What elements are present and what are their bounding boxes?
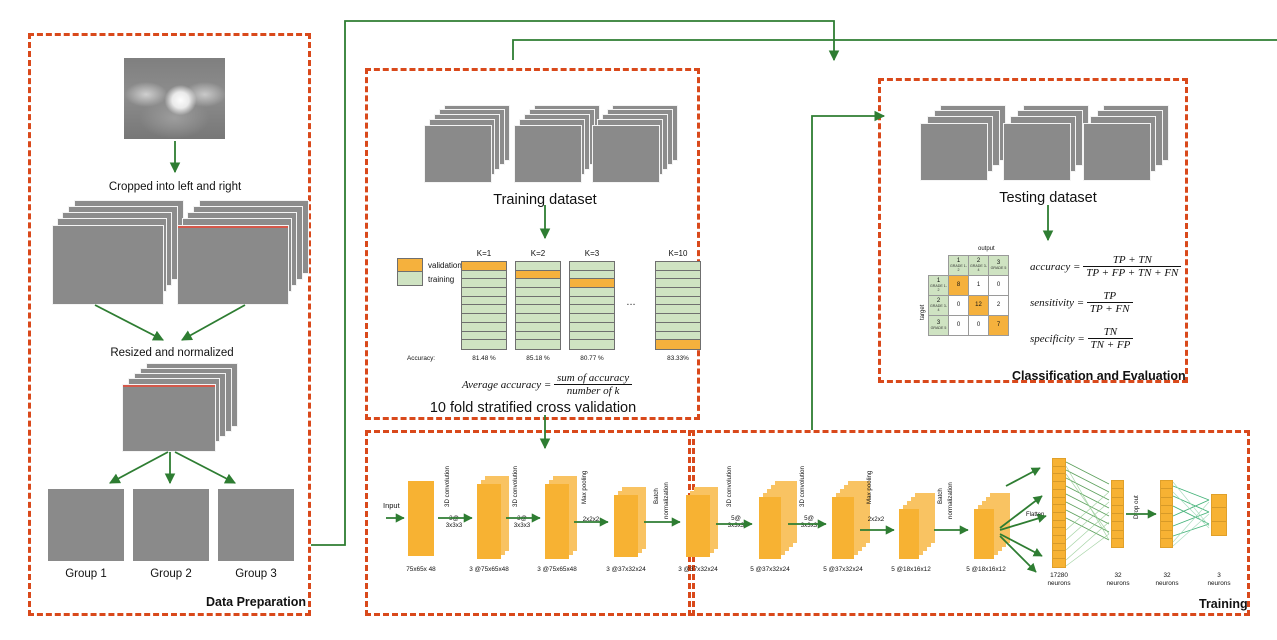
testing-dataset-stack-3 — [1083, 105, 1183, 185]
label-group-2: Group 2 — [150, 568, 192, 580]
cm-col-header-3: 3 GRADE 5 — [989, 256, 1009, 276]
cm-row-header-1: 1 GRADE 1-2 — [929, 276, 949, 296]
formula-sensitivity-name: sensitivity = — [1030, 297, 1084, 309]
cnn-flatten-label: Flatten — [1026, 512, 1044, 518]
cm-cell-3-2: 0 — [969, 316, 989, 336]
dense-layer-output-caption: 3 neurons — [1184, 572, 1254, 588]
cnn-op-label-3: Batch — [653, 488, 660, 504]
cnn-shape-8: 5 @18x16x12 — [946, 566, 1026, 573]
cnn-block-6 — [832, 497, 854, 559]
average-accuracy-formula: Average accuracy = sum of accuracy numbe… — [462, 372, 632, 397]
cnn-shape-4: 3 @37x32x24 — [658, 566, 738, 573]
formula-accuracy-name: accuracy = — [1030, 261, 1080, 273]
cnn-kernel-5: 5@3x3x3 — [792, 515, 826, 529]
confusion-matrix-output-label: output — [978, 246, 995, 252]
fold-accuracy-k2: 85.18 % — [526, 355, 549, 362]
dense-1-count: 17280 — [1050, 572, 1068, 579]
cm-cell-2-3: 2 — [989, 296, 1009, 316]
cm-cell-2-1: 0 — [949, 296, 969, 316]
cropped-right-stack — [177, 200, 317, 310]
cropped-left-stack — [52, 200, 192, 310]
cm-cell-3-3: 7 — [989, 316, 1009, 336]
label-training-dataset: Training dataset — [493, 192, 596, 208]
fold-label-k10: K=10 — [669, 249, 688, 258]
dense-3-unit: neurons — [1155, 580, 1178, 587]
formula-specificity-numerator: TN — [1088, 326, 1134, 338]
cm-cell-3-1: 0 — [949, 316, 969, 336]
legend-label-training: training — [428, 275, 454, 284]
formula-accuracy-numerator: TP + TN — [1083, 254, 1181, 266]
caption-resized: Resized and normalized — [110, 347, 233, 359]
cnn-op-label-1: 3D convolution — [512, 466, 519, 507]
group-3-image — [218, 489, 294, 561]
caption-cropped: Cropped into left and right — [109, 181, 241, 193]
training-dataset-stack-3 — [592, 105, 692, 185]
cm-row-header-3: 3 GRADE 5 — [929, 316, 949, 336]
axial-mri-image — [124, 58, 225, 139]
cnn-block-5 — [759, 497, 781, 559]
cm-row-1: 1 GRADE 1-2 8 1 0 — [929, 276, 1009, 296]
dense-2-unit: neurons — [1106, 580, 1129, 587]
confusion-matrix: 1 GRADE 1-2 2 GRADE 3-4 3 GRADE 5 1 GRAD… — [928, 255, 1009, 336]
cnn-kernel-0: 3@3x3x3 — [437, 515, 471, 529]
cm-row-2: 2 GRADE 3-4 0 12 2 — [929, 296, 1009, 316]
cm-corner — [929, 256, 949, 276]
cm-cell-1-2: 1 — [969, 276, 989, 296]
fold-ellipsis: ... — [626, 296, 635, 308]
panel-label-data-preparation: Data Preparation — [206, 595, 306, 609]
formula-sensitivity-numerator: TP — [1087, 290, 1133, 302]
normalized-stack — [122, 363, 242, 468]
cm-col-header-2: 2 GRADE 3-4 — [969, 256, 989, 276]
label-group-1: Group 1 — [65, 568, 107, 580]
cnn-kernel-1: 3@3x3x3 — [505, 515, 539, 529]
diagram-canvas: Data Preparation Training Classification… — [0, 0, 1277, 640]
cnn-op-label-4: 3D convolution — [726, 466, 733, 507]
cnn-block-3 — [614, 495, 638, 557]
cnn-kernel-4: 5@3x3x3 — [719, 515, 753, 529]
cnn-block-input — [408, 481, 434, 556]
average-accuracy-lhs: Average accuracy = — [462, 379, 551, 391]
label-group-3: Group 3 — [235, 568, 277, 580]
cnn-block-7 — [899, 509, 919, 559]
formula-sensitivity-denominator: TP + FN — [1087, 302, 1133, 315]
fold-label-k2: K=2 — [531, 249, 545, 258]
dense-1-unit: neurons — [1047, 580, 1070, 587]
group-2-image — [133, 489, 209, 561]
accuracy-row-label: Accuracy: — [407, 355, 435, 362]
cm-cell-1-3: 0 — [989, 276, 1009, 296]
fold-bar-k1 — [461, 261, 507, 350]
formula-specificity-denominator: TN + FP — [1088, 338, 1134, 351]
cnn-op-label-3b: normalization — [663, 482, 670, 519]
fold-bar-k2 — [515, 261, 561, 350]
fold-accuracy-k3: 80.77 % — [580, 355, 603, 362]
cnn-block-4 — [686, 495, 710, 557]
formula-sensitivity: sensitivity = TP TP + FN — [1030, 290, 1133, 315]
panel-label-classification: Classification and Evaluation — [1012, 369, 1186, 383]
formula-accuracy: accuracy = TP + TN TP + FP + TN + FN — [1030, 254, 1181, 279]
dense-layer-1 — [1052, 458, 1066, 568]
cnn-block-8 — [974, 509, 994, 559]
average-accuracy-denominator: number of k — [554, 384, 632, 397]
cnn-block-2 — [545, 484, 569, 559]
fold-accuracy-k1: 81.48 % — [472, 355, 495, 362]
cnn-dropout-label: Drop out — [1133, 495, 1140, 519]
cv-legend-swatches — [397, 258, 423, 286]
legend-label-validation: validation — [428, 261, 462, 270]
cm-cell-2-2: 12 — [969, 296, 989, 316]
caption-cross-validation: 10 fold stratified cross validation — [430, 400, 636, 416]
cnn-input-label: Input — [383, 501, 400, 510]
dense-4-count: 3 — [1217, 572, 1221, 579]
cnn-kernel-2: 2x2x2 — [574, 516, 608, 523]
cnn-block-1 — [477, 484, 501, 559]
fold-label-k1: K=1 — [477, 249, 491, 258]
cnn-shape-2: 3 @75x65x48 — [517, 566, 597, 573]
fold-bar-k10 — [655, 261, 701, 350]
cm-cell-1-1: 8 — [949, 276, 969, 296]
cnn-op-label-2: Max pooling — [581, 471, 588, 504]
cm-row-header-2: 2 GRADE 3-4 — [929, 296, 949, 316]
cnn-shape-3: 3 @37x32x24 — [586, 566, 666, 573]
dense-4-unit: neurons — [1207, 580, 1230, 587]
cnn-op-label-6: Max pooling — [866, 471, 873, 504]
cnn-op-label-7: Batch — [937, 488, 944, 504]
cnn-op-label-7b: normalization — [947, 482, 954, 519]
dense-2-count: 32 — [1114, 572, 1121, 579]
cnn-shape-7: 5 @18x16x12 — [871, 566, 951, 573]
fold-bar-k3 — [569, 261, 615, 350]
fold-label-k3: K=3 — [585, 249, 599, 258]
fold-accuracy-k10: 83.33% — [667, 355, 689, 362]
cnn-shape-5: 5 @37x32x24 — [730, 566, 810, 573]
dense-layer-2 — [1111, 480, 1124, 548]
cm-row-3: 3 GRADE 5 0 0 7 — [929, 316, 1009, 336]
group-1-image — [48, 489, 124, 561]
dense-layer-output — [1211, 494, 1227, 536]
average-accuracy-numerator: sum of accuracy — [554, 372, 632, 384]
dense-layer-3 — [1160, 480, 1173, 548]
training-dataset-stack-1 — [424, 105, 524, 185]
cnn-op-label-5: 3D convolution — [799, 466, 806, 507]
formula-accuracy-denominator: TP + FP + TN + FN — [1083, 266, 1181, 279]
dense-3-count: 32 — [1163, 572, 1170, 579]
formula-specificity-name: specificity = — [1030, 333, 1085, 345]
panel-label-training: Training — [1199, 597, 1248, 611]
cm-col-header-1: 1 GRADE 1-2 — [949, 256, 969, 276]
cnn-op-label-0: 3D convolution — [444, 466, 451, 507]
label-testing-dataset: Testing dataset — [999, 190, 1097, 206]
formula-specificity: specificity = TN TN + FP — [1030, 326, 1133, 351]
cnn-kernel-6: 2x2x2 — [859, 516, 893, 523]
confusion-matrix-target-label: target — [920, 305, 926, 320]
